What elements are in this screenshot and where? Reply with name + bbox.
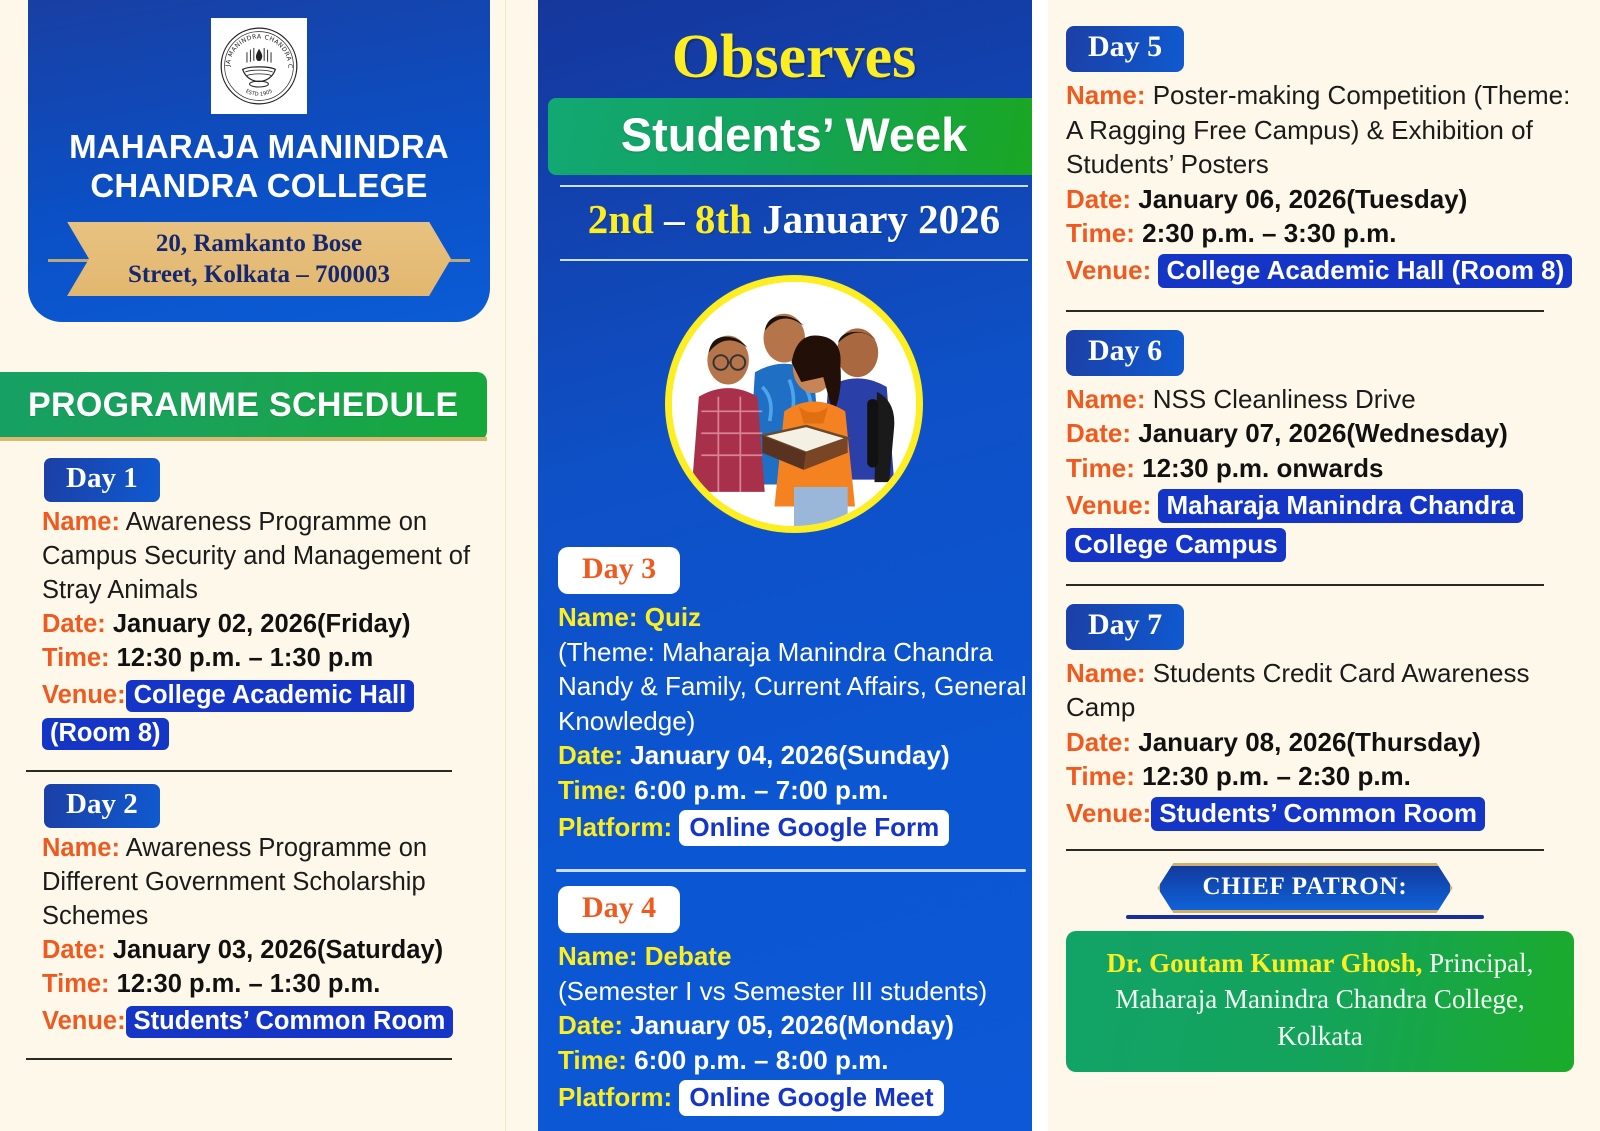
day6-date-value: January 07, 2026(Wednesday)	[1138, 418, 1507, 448]
students-week-banner: Students’ Week	[548, 98, 1040, 175]
label-date-3: Date:	[558, 740, 623, 770]
day-chip-3: Day 3	[558, 547, 680, 594]
address-line1: 20, Ramkanto Bose	[128, 228, 390, 259]
center-blue-panel: Observes Students’ Week 2nd – 8th Januar…	[538, 0, 1050, 1131]
date-range-start: 2nd	[588, 196, 654, 242]
day6-name-row: Name: NSS Cleanliness Drive	[1066, 382, 1574, 417]
day-body-4: Name: Debate (Semester I vs Semester III…	[558, 939, 1050, 1115]
chief-patron-rule	[1126, 915, 1484, 919]
chief-patron-affiliation: Maharaja Manindra Chandra College, Kolka…	[1082, 981, 1558, 1054]
label-date-5: Date:	[1066, 184, 1131, 214]
day5-date-value: January 06, 2026(Tuesday)	[1138, 184, 1467, 214]
day7-date-value: January 08, 2026(Thursday)	[1138, 727, 1481, 757]
day-block-3: Day 3 Name: Quiz (Theme: Maharaja Manind…	[538, 547, 1050, 845]
label-venue-5: Venue:	[1066, 255, 1151, 285]
label-platform-3: Platform:	[558, 812, 672, 842]
day-body-1: Name: Awareness Programme on Campus Secu…	[0, 506, 492, 752]
day3-time-row: Time: 6:00 p.m. – 7:00 p.m.	[558, 773, 1036, 808]
day6-name-value: NSS Cleanliness Drive	[1153, 384, 1416, 414]
day4-platform-row: Platform: Online Google Meet	[558, 1080, 1036, 1115]
day4-time-row: Time: 6:00 p.m. – 8:00 p.m.	[558, 1043, 1036, 1078]
day7-time-row: Time: 12:30 p.m. – 2:30 p.m.	[1066, 759, 1574, 794]
college-logo-container: MAHARAJA MANINDRA CHANDRA COLLEGE ESTD	[211, 18, 307, 114]
label-time-3: Time:	[558, 775, 627, 805]
students-group-photo	[665, 275, 923, 533]
college-address-block: 20, Ramkanto Bose Street, Kolkata – 7000…	[44, 222, 474, 296]
svg-text:ESTD 1905: ESTD 1905	[244, 89, 273, 98]
day5-name-row: Name: Poster-making Competition (Theme: …	[1066, 78, 1574, 182]
day3-platform-row: Platform: Online Google Form	[558, 810, 1036, 845]
day-block-1: Day 1 Name: Awareness Programme on Campu…	[0, 450, 506, 772]
date-range-end: 8th	[695, 196, 752, 242]
label-venue-2: Venue:	[42, 1007, 126, 1035]
day-body-7: Name: Students Credit Card Awareness Cam…	[1066, 656, 1574, 833]
day2-venue-row: Venue:Students’ Common Room	[42, 1002, 482, 1040]
day5-time-value: 2:30 p.m. – 3:30 p.m.	[1142, 218, 1396, 248]
day1-date-row: Date: January 02, 2026(Friday)	[42, 608, 482, 642]
left-day-list: Day 1 Name: Awareness Programme on Campu…	[0, 450, 506, 1064]
label-venue-1: Venue:	[42, 681, 126, 709]
day6-time-value: 12:30 p.m. onwards	[1142, 453, 1383, 483]
label-time-1: Time:	[42, 644, 110, 672]
day5-venue-row: Venue: College Academic Hall (Room 8)	[1066, 251, 1574, 290]
day6-venue-row: Venue: Maharaja Manindra Chandra College…	[1066, 486, 1574, 564]
left-column: MAHARAJA MANINDRA CHANDRA COLLEGE ESTD	[0, 0, 520, 1131]
day3-platform-value: Online Google Form	[679, 810, 949, 846]
label-name-6: Name:	[1066, 384, 1145, 414]
day-block-4: Day 4 Name: Debate (Semester I vs Semest…	[538, 886, 1050, 1131]
label-name-3: Name:	[558, 602, 637, 632]
chief-patron-designation: Principal,	[1422, 948, 1533, 978]
day1-name-row: Name: Awareness Programme on Campus Secu…	[42, 506, 482, 608]
day1-time-value: 12:30 p.m. – 1:30 p.m	[117, 644, 374, 672]
address-line2: Street, Kolkata – 700003	[128, 259, 390, 290]
day4-subtitle: (Semester I vs Semester III students)	[558, 974, 1036, 1009]
day2-name-row: Name: Awareness Programme on Different G…	[42, 832, 482, 934]
svg-text:MAHARAJA MANINDRA CHANDRA COLL: MAHARAJA MANINDRA CHANDRA COLLEGE	[216, 23, 293, 69]
chief-patron-heading-wrap: CHIEF PATRON:	[1066, 863, 1544, 919]
day2-date-value: January 03, 2026(Saturday)	[113, 936, 443, 964]
day2-time-value: 12:30 p.m. – 1:30 p.m.	[117, 970, 381, 998]
day5-time-row: Time: 2:30 p.m. – 3:30 p.m.	[1066, 216, 1574, 251]
day-body-2: Name: Awareness Programme on Different G…	[0, 832, 492, 1040]
day3-name-value: Quiz	[645, 602, 701, 632]
center-divider	[556, 869, 1026, 872]
day-block-6: Day 6 Name: NSS Cleanliness Drive Date: …	[1048, 330, 1600, 586]
day-chip-7: Day 7	[1066, 604, 1184, 650]
label-platform-4: Platform:	[558, 1082, 672, 1112]
date-range-dash: –	[654, 196, 695, 242]
poster-root: MAHARAJA MANINDRA CHANDRA COLLEGE ESTD	[0, 0, 1600, 1131]
label-date-1: Date:	[42, 610, 106, 638]
day2-time-row: Time: 12:30 p.m. – 1:30 p.m.	[42, 968, 482, 1002]
day-divider-6	[1066, 584, 1544, 586]
college-name-line1: MAHARAJA MANINDRA	[44, 128, 474, 167]
college-name: MAHARAJA MANINDRA CHANDRA COLLEGE	[44, 128, 474, 206]
day1-time-row: Time: 12:30 p.m. – 1:30 p.m	[42, 642, 482, 676]
event-date-range: 2nd – 8th January 2026	[538, 187, 1050, 249]
day3-date-row: Date: January 04, 2026(Sunday)	[558, 738, 1036, 773]
day6-date-row: Date: January 07, 2026(Wednesday)	[1066, 416, 1574, 451]
day3-subtitle: (Theme: Maharaja Manindra Chandra Nandy …	[558, 635, 1036, 739]
label-name-5: Name:	[1066, 80, 1145, 110]
day1-venue-row: Venue:College Academic Hall (Room 8)	[42, 676, 482, 753]
chief-patron-section: CHIEF PATRON: Dr. Goutam Kumar Ghosh, Pr…	[1048, 863, 1600, 1072]
day7-venue-value: Students’ Common Room	[1151, 797, 1485, 831]
label-name-2: Name:	[42, 834, 120, 862]
day-chip-4: Day 4	[558, 886, 680, 933]
day2-date-row: Date: January 03, 2026(Saturday)	[42, 934, 482, 968]
day4-name-value: Debate	[645, 941, 732, 971]
label-venue-7: Venue:	[1066, 798, 1151, 828]
students-group-photo-icon	[672, 282, 916, 526]
label-date-6: Date:	[1066, 418, 1131, 448]
day3-name-row: Name: Quiz	[558, 600, 1036, 635]
right-column: Day 5 Name: Poster-making Competition (T…	[1032, 0, 1600, 1131]
label-time-4: Time:	[558, 1045, 627, 1075]
day7-time-value: 12:30 p.m. – 2:30 p.m.	[1142, 761, 1411, 791]
day5-venue-value: College Academic Hall (Room 8)	[1158, 254, 1572, 288]
day-chip-1: Day 1	[44, 458, 160, 502]
day-divider-5	[1066, 310, 1544, 312]
day-body-3: Name: Quiz (Theme: Maharaja Manindra Cha…	[558, 600, 1050, 845]
day4-date-value: January 05, 2026(Monday)	[630, 1010, 954, 1040]
day-block-5: Day 5 Name: Poster-making Competition (T…	[1048, 0, 1600, 312]
label-date-2: Date:	[42, 936, 106, 964]
label-name-4: Name:	[558, 941, 637, 971]
day4-time-value: 6:00 p.m. – 8:00 p.m.	[634, 1045, 888, 1075]
day-chip-2: Day 2	[44, 784, 160, 828]
date-range-month-year: January 2026	[752, 196, 1000, 242]
address-ribbon: 20, Ramkanto Bose Street, Kolkata – 7000…	[67, 222, 451, 297]
center-column: Observes Students’ Week 2nd – 8th Januar…	[520, 0, 1032, 1131]
right-column-content: Day 5 Name: Poster-making Competition (T…	[1048, 0, 1600, 1131]
programme-schedule-underline	[0, 437, 487, 441]
day3-time-value: 6:00 p.m. – 7:00 p.m.	[634, 775, 888, 805]
label-name-1: Name:	[42, 508, 120, 536]
label-time-7: Time:	[1066, 761, 1135, 791]
day-body-6: Name: NSS Cleanliness Drive Date: Januar…	[1066, 382, 1574, 564]
label-date-7: Date:	[1066, 727, 1131, 757]
day-divider-7	[1066, 849, 1544, 851]
day4-date-row: Date: January 05, 2026(Monday)	[558, 1008, 1036, 1043]
day3-date-value: January 04, 2026(Sunday)	[630, 740, 949, 770]
day1-date-value: January 02, 2026(Friday)	[113, 610, 411, 638]
label-name-7: Name:	[1066, 658, 1145, 688]
day-body-5: Name: Poster-making Competition (Theme: …	[1066, 78, 1574, 290]
day7-date-row: Date: January 08, 2026(Thursday)	[1066, 725, 1574, 760]
day4-platform-value: Online Google Meet	[679, 1080, 943, 1116]
day-divider-1	[26, 770, 452, 772]
day5-date-row: Date: January 06, 2026(Tuesday)	[1066, 182, 1574, 217]
day-chip-5: Day 5	[1066, 26, 1184, 72]
day-divider-2	[26, 1058, 452, 1060]
chief-patron-heading: CHIEF PATRON:	[1157, 863, 1452, 913]
college-lamp-emblem-icon: MAHARAJA MANINDRA CHANDRA COLLEGE ESTD	[216, 23, 302, 109]
day4-name-row: Name: Debate	[558, 939, 1036, 974]
day2-venue-value: Students’ Common Room	[126, 1006, 454, 1038]
chief-patron-card: Dr. Goutam Kumar Ghosh, Principal, Mahar…	[1066, 931, 1574, 1072]
label-time-6: Time:	[1066, 453, 1135, 483]
date-rule-bottom	[560, 259, 1028, 261]
day-block-7: Day 7 Name: Students Credit Card Awarene…	[1048, 604, 1600, 851]
day6-time-row: Time: 12:30 p.m. onwards	[1066, 451, 1574, 486]
observes-heading: Observes	[538, 26, 1050, 88]
day-chip-6: Day 6	[1066, 330, 1184, 376]
right-column-gap	[1032, 0, 1048, 1131]
label-time-2: Time:	[42, 970, 110, 998]
day7-venue-row: Venue:Students’ Common Room	[1066, 794, 1574, 833]
college-header-card: MAHARAJA MANINDRA CHANDRA COLLEGE ESTD	[28, 0, 490, 322]
label-date-4: Date:	[558, 1010, 623, 1040]
label-time-5: Time:	[1066, 218, 1135, 248]
college-name-line2: CHANDRA COLLEGE	[44, 167, 474, 206]
label-venue-6: Venue:	[1066, 490, 1151, 520]
day7-name-row: Name: Students Credit Card Awareness Cam…	[1066, 656, 1574, 725]
chief-patron-name: Dr. Goutam Kumar Ghosh,	[1107, 948, 1423, 978]
programme-schedule-banner: PROGRAMME SCHEDULE	[0, 372, 487, 441]
day-block-2: Day 2 Name: Awareness Programme on Diffe…	[0, 776, 506, 1060]
